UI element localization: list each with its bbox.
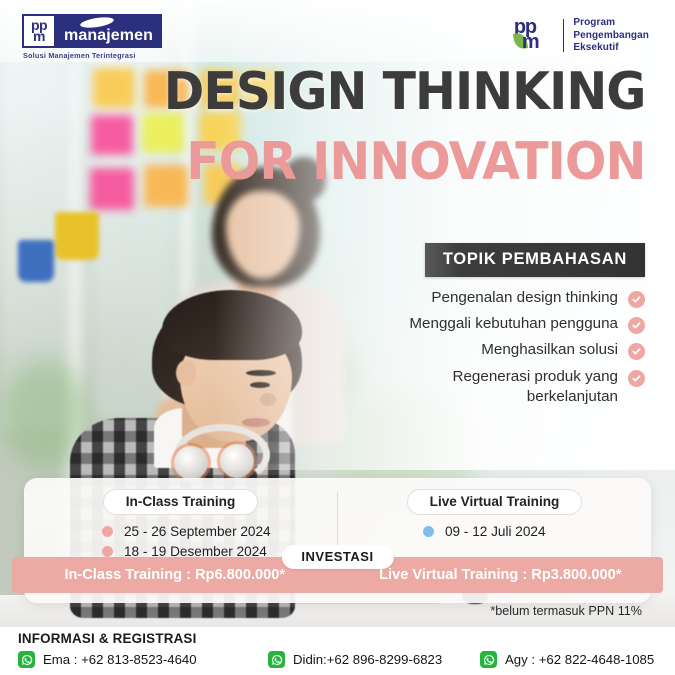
headline-line-2: FOR INNOVATION <box>163 138 645 187</box>
date-label: 25 - 26 September 2024 <box>124 524 271 539</box>
ppe-text-line2: Pengembangan <box>573 30 649 43</box>
footer-title: INFORMASI & REGISTRASI <box>18 631 197 646</box>
date-label: 09 - 12 Juli 2024 <box>445 524 546 539</box>
check-circle-icon <box>628 291 645 308</box>
investasi-live-virtual-price: Live Virtual Training : Rp3.800.000* <box>338 567 664 583</box>
schedule-column-live-virtual: Live Virtual Training 09 - 12 Juli 2024 <box>338 478 651 544</box>
headline-block: DESIGN THINKING FOR INNOVATION <box>133 68 646 187</box>
ppm-tagline: Solusi Manajemen Terintegrasi <box>23 51 162 60</box>
yellow-cup <box>55 212 99 260</box>
topic-section-bar: TOPIK PEMBAHASAN <box>425 243 645 277</box>
topic-list-item: Menggali kebutuhan pengguna <box>315 314 645 334</box>
sticky-note <box>90 168 134 210</box>
topic-label: Regenerasi produk yang berkelanjutan <box>418 367 618 407</box>
contact-label: Ema : +62 813-8523-4640 <box>43 652 197 667</box>
check-circle-icon <box>628 317 645 334</box>
whatsapp-icon <box>18 651 35 668</box>
ppm-logo-mark: pp m manajemen <box>22 14 162 48</box>
ppm-wordmark-bar: manajemen <box>56 14 162 48</box>
topic-list-item: Menghasilkan solusi <box>315 340 645 360</box>
ppe-logo-mark: pp m <box>514 17 554 54</box>
whatsapp-icon <box>268 651 285 668</box>
ppe-monogram-bottom: m <box>522 32 539 52</box>
contact-label: Didin:+62 896-8299-6823 <box>293 652 442 667</box>
date-row: 09 - 12 Juli 2024 <box>423 524 651 539</box>
whatsapp-icon <box>480 651 497 668</box>
ppn-note: *belum termasuk PPN 11% <box>490 604 642 618</box>
ppm-manajemen-logo: pp m manajemen Solusi Manajemen Terinteg… <box>22 14 162 60</box>
contact-item[interactable]: Ema : +62 813-8523-4640 <box>18 651 268 668</box>
investasi-pill: INVESTASI <box>281 545 393 569</box>
contact-label: Agy : +62 822-4648-1085 <box>505 652 654 667</box>
contact-item[interactable]: Agy : +62 822-4648-1085 <box>480 651 654 668</box>
ppe-text-line3: Eksekutif <box>573 42 649 55</box>
topic-label: Pengenalan design thinking <box>431 288 618 308</box>
investasi-in-class-price: In-Class Training : Rp6.800.000* <box>12 567 338 583</box>
bullet-dot-icon <box>423 526 434 537</box>
poster-canvas: pp m manajemen Solusi Manajemen Terinteg… <box>0 0 675 675</box>
ppe-text-line1: Program <box>573 17 649 30</box>
ppm-monogram: pp m <box>22 14 56 48</box>
topic-label: Menggali kebutuhan pengguna <box>409 314 618 334</box>
topic-list: Pengenalan design thinking Menggali kebu… <box>315 288 645 413</box>
topic-list-item: Pengenalan design thinking <box>315 288 645 308</box>
check-circle-icon <box>628 343 645 360</box>
person-ear <box>176 360 196 386</box>
topic-label: Menghasilkan solusi <box>481 340 618 360</box>
ppe-logo-text: Program Pengembangan Eksekutif <box>573 17 649 55</box>
contact-list: Ema : +62 813-8523-4640 Didin:+62 896-82… <box>18 651 663 668</box>
date-row: 25 - 26 September 2024 <box>102 524 337 539</box>
headline-line-1: DESIGN THINKING <box>163 68 645 117</box>
in-class-training-pill: In-Class Training <box>103 489 259 515</box>
footer-bar: INFORMASI & REGISTRASI Ema : +62 813-852… <box>0 627 675 675</box>
ppm-wordmark: manajemen <box>64 27 153 45</box>
bullet-dot-icon <box>102 546 113 557</box>
ppm-monogram-bottom: m <box>33 31 45 42</box>
logo-divider <box>563 19 565 52</box>
sticky-note <box>91 115 133 155</box>
contact-item[interactable]: Didin:+62 896-8299-6823 <box>268 651 480 668</box>
live-virtual-training-pill: Live Virtual Training <box>407 489 583 515</box>
ppe-logo: pp m Program Pengembangan Eksekutif <box>514 17 649 55</box>
blue-cup <box>18 240 54 282</box>
bullet-dot-icon <box>102 526 113 537</box>
live-virtual-date-list: 09 - 12 Juli 2024 <box>338 524 651 539</box>
topic-list-item: Regenerasi produk yang berkelanjutan <box>315 367 645 407</box>
check-circle-icon <box>628 370 645 387</box>
sticky-note <box>93 68 135 108</box>
headphone-earcup <box>174 446 208 480</box>
